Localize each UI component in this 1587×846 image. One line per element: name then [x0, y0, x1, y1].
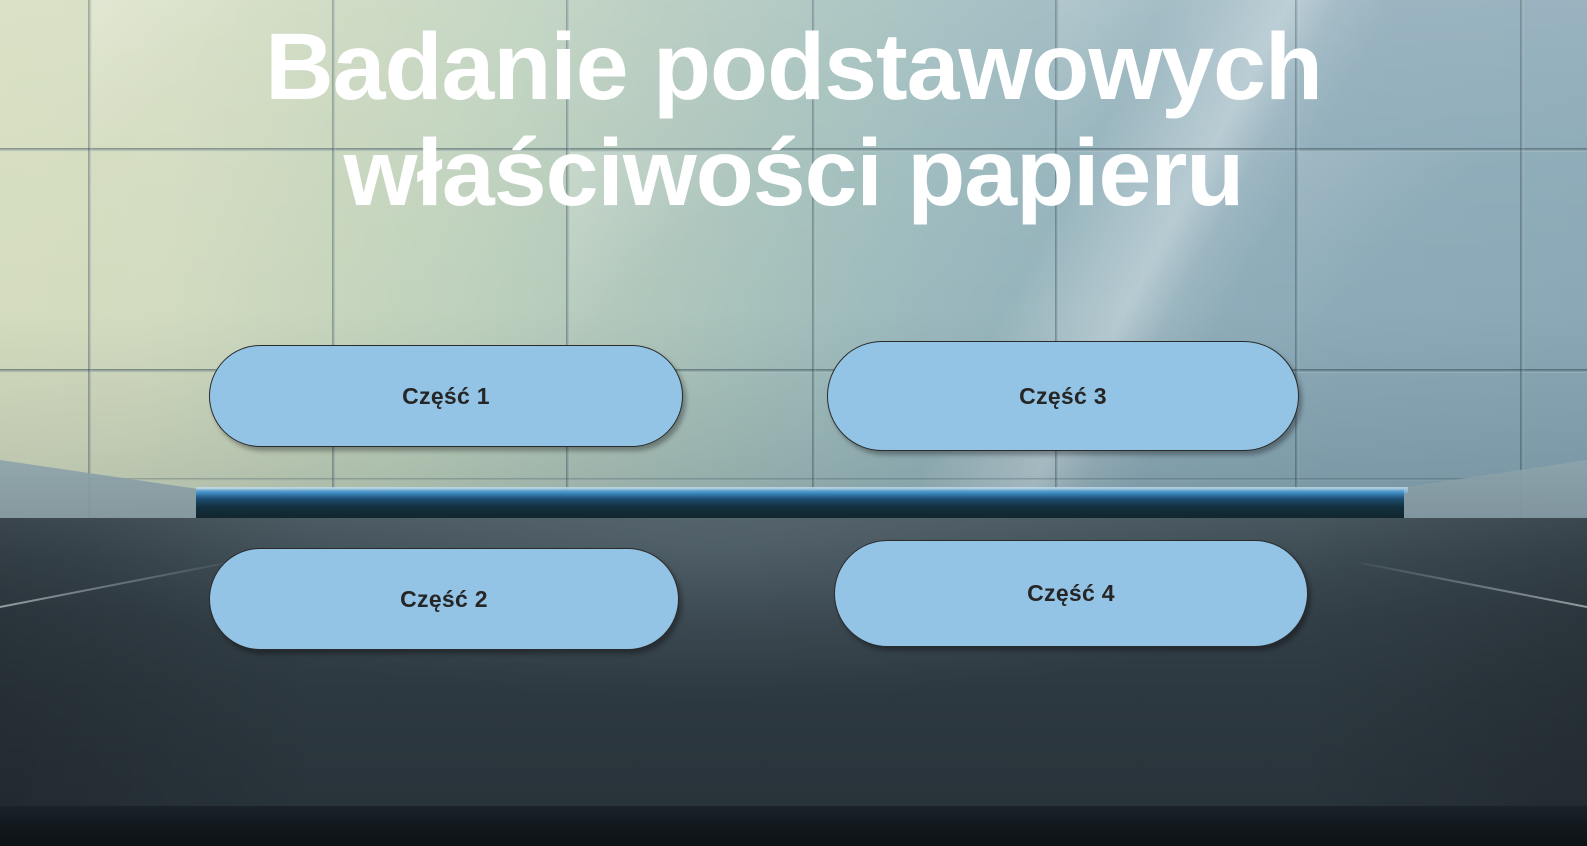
button-czesc-1[interactable]: Część 1: [209, 345, 683, 447]
button-czesc-1-label: Część 1: [402, 383, 490, 410]
page-title: Badanie podstawowych właściwości papieru: [0, 14, 1587, 227]
button-czesc-4-label: Część 4: [1027, 580, 1115, 607]
button-czesc-2-label: Część 2: [400, 586, 488, 613]
button-czesc-4[interactable]: Część 4: [834, 540, 1308, 647]
button-czesc-3[interactable]: Część 3: [827, 341, 1299, 451]
slide-canvas: Badanie podstawowych właściwości papieru…: [0, 0, 1587, 846]
floor-shadow-band: [0, 806, 1587, 846]
button-czesc-2[interactable]: Część 2: [209, 548, 679, 650]
button-czesc-3-label: Część 3: [1019, 383, 1107, 410]
